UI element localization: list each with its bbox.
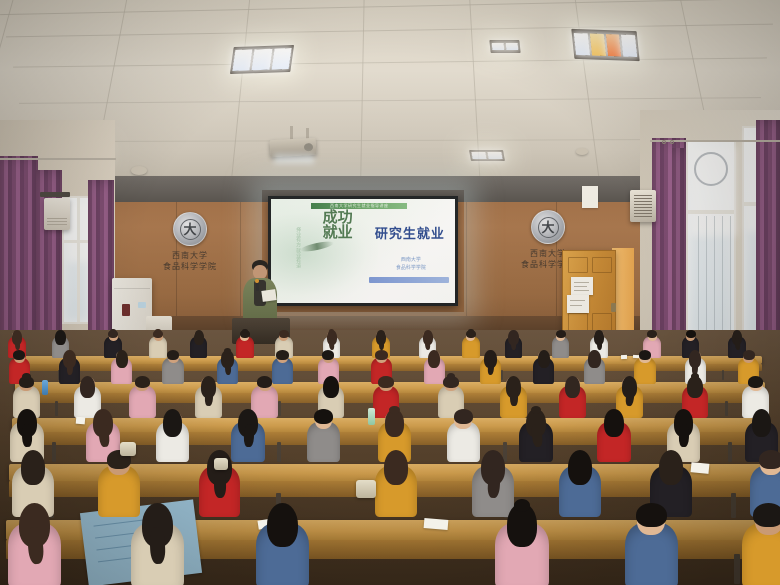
desk-leg [728,442,732,462]
desk-leg [731,493,736,518]
audience-hair [279,330,289,338]
audience-hair [167,350,179,360]
audience-hair [257,376,272,388]
audience-member [533,350,554,388]
audience-hair [565,376,580,398]
curtain-right-highlight [672,148,686,346]
door-panel [592,257,612,273]
notice-line [574,290,589,291]
door-handle-icon[interactable] [611,303,616,312]
slide-main-title: 研究生就业 [369,223,452,242]
audience-hair [639,350,651,360]
audience-hair [686,330,696,338]
audience-hair [116,350,128,368]
audience-hair-bun [389,406,400,414]
audience-hair [323,376,338,398]
desk-paper [423,518,448,530]
audience-member [307,408,340,467]
cabinet-label [138,302,146,308]
light-tube [252,49,272,70]
audience-member [236,330,253,361]
audience-hair [636,503,667,527]
audience-hair [743,350,755,360]
light-tube [471,152,486,158]
light-tube [506,43,519,51]
water-bottle [368,408,375,425]
ceiling-grid-line [19,97,761,104]
audience-member [559,449,601,523]
ac-bracket [40,192,70,197]
audience-member [505,330,522,361]
window-mullion [64,240,90,243]
audience-hair [759,450,780,469]
audience-hair [556,330,566,338]
audience-hair-bun [22,373,30,380]
audience-hair [748,376,763,388]
projector-beam [274,154,314,164]
cabinet-seam [114,288,150,289]
light-tube [589,33,605,56]
light-tube [605,34,621,57]
audience-member [8,502,61,585]
desk-leg [722,370,724,380]
audience-ponytail [214,469,227,498]
audience-hair [604,409,623,437]
audience-hair-bun [224,348,231,353]
projector-lens [304,143,313,151]
audience-member [584,350,605,388]
handbag [120,442,136,456]
desk-leg [277,442,281,462]
audience-hair [194,330,204,344]
audience-ponytail [225,360,232,375]
audience-ponytail [67,360,74,375]
ceiling-grid-line [13,57,767,67]
door-panel [568,257,588,273]
audience-hair-bun [691,373,699,380]
audience-member [162,350,183,388]
audience-member [256,502,309,585]
audience-member [597,408,630,467]
audience-hair [314,409,333,424]
audience-hair [588,350,600,368]
audience-hair [13,350,25,360]
bar [730,216,731,336]
projection-screen: 西南大学研究生就业指导讲座 成功就业 择业有方 就业有道 研究生就业 西南大学 … [268,196,458,306]
wall-seam [466,202,467,322]
audience-hair-bun [447,373,455,380]
audience-ponytail [22,424,33,448]
audience-hair [80,376,95,398]
window-mullion [688,210,734,214]
university-emblem-icon: 大 [531,210,565,244]
desk-paper [76,417,85,424]
audience-hair [21,450,45,485]
audience-member [495,502,548,585]
audience-hair [276,350,288,360]
audience-hair [428,350,440,368]
audience-hair [163,409,182,437]
bar [698,216,699,336]
audience-ponytail [14,338,20,350]
notice-line [574,282,589,283]
bar [714,216,715,336]
plaque-line-2: 食品科学学院 [162,261,218,272]
audience-member [625,502,678,585]
door-notice-2 [567,295,589,313]
window-fan-graphic [694,152,728,186]
classroom-photo: 大 西南大学 食品科学学院 大 西南大学 食品科学学院 西南大学研究生就业指导讲… [0,0,780,585]
audience-hair [267,503,298,547]
audience-ponytail [243,424,254,448]
audience-hair [135,376,150,388]
slide-content: 西南大学研究生就业指导讲座 成功就业 择业有方 就业有道 研究生就业 西南大学 … [271,199,455,303]
plaque-line-1: 西南大学 [162,250,218,261]
air-conditioner [44,198,70,230]
curtain-ring [662,140,666,144]
handbag [214,458,228,470]
smoke-detector-icon [131,166,147,175]
audience-member [552,330,569,361]
presenter-notes [261,289,276,302]
light-tube [271,48,291,69]
ceiling-light-4 [489,40,520,53]
light-tube [621,34,637,57]
emblem-glyph: 大 [180,219,201,240]
audience-hair-bun [468,329,474,333]
smoke-detector-icon [576,148,588,155]
slide-org-line-1: 西南大学 [374,257,448,264]
notice-line [570,305,582,306]
slide-vertical-title: 成功就业 [321,211,355,241]
light-tube [487,152,502,158]
audience-member [375,449,417,523]
ceiling-light-5 [469,150,505,161]
audience-ponytail [379,338,384,350]
window-security-bars [692,216,736,336]
audience-member [131,502,184,585]
audience-member [190,330,207,361]
audience-member [742,502,780,585]
light-tube [574,33,590,56]
audience-member [480,350,501,388]
cabinet-display [122,304,130,316]
audience-member [156,408,189,467]
desk-leg [734,554,740,584]
ceiling-grid-line [360,0,365,190]
curtain-ring [670,140,674,144]
wall-plaque-left: 大 西南大学 食品科学学院 [162,212,218,274]
ac-vent [47,221,67,222]
ceiling-light-1 [230,45,294,74]
audience-ponytail [679,424,689,447]
audience-ponytail [204,387,213,406]
curtain-right-2 [756,120,780,356]
microphone-head [255,279,259,283]
desk-leg [55,401,58,416]
microphone-icon [256,282,259,291]
audience-hair [538,350,550,368]
audience-hair [384,450,408,485]
desk-paper [621,355,627,359]
notice-line [574,286,587,287]
handbag [356,480,376,498]
audience-member [519,408,552,467]
audience-hair-bun [242,329,248,333]
audience-hair [752,409,771,437]
ac-vent [47,224,67,225]
university-emblem-icon: 大 [173,212,207,246]
audience-ponytail [597,338,602,350]
audience-hair [378,376,393,388]
audience-member [129,375,156,422]
slide-vertical-subtitle: 择业有方 就业有道 [293,227,301,268]
window-mullion [77,198,80,322]
audience-member [559,375,586,422]
audience-hair [55,330,65,344]
audience-hair [454,409,473,424]
audience-hair [753,503,780,527]
slide-accent-bar [369,277,450,283]
audience-hair-bun [514,499,531,512]
audience-member [462,330,479,361]
bar [722,216,723,336]
light-tube [232,50,252,71]
projector-mount [290,126,293,140]
wall-speaker [630,190,656,222]
audience-hair [568,450,592,485]
ceiling-grid-line [230,0,250,190]
audience-ponytail [510,388,518,406]
emblem-glyph: 大 [538,217,559,238]
desk-leg [278,401,281,416]
speaker-mesh [634,195,652,217]
audience-member [195,375,222,422]
audience-hair [659,450,683,485]
curtain-rod-left [0,158,116,160]
wall-notice [582,186,598,208]
desk-paper [691,462,710,473]
ceiling-light-2 [571,29,639,61]
audience-hair [322,350,334,360]
slide-banner: 西南大学研究生就业指导讲座 [311,203,407,209]
audience-hair [375,350,387,360]
slide-org-line-2: 食品科学学院 [374,265,448,272]
ac-vent [47,218,67,219]
desk-leg [725,401,728,416]
notice-line [570,300,585,301]
door-notice-1 [571,277,593,295]
light-tube [492,43,505,51]
water-bottle [42,380,48,395]
ceiling-grid-line [0,0,780,15]
bar [706,216,707,336]
presenter-head [253,265,267,279]
